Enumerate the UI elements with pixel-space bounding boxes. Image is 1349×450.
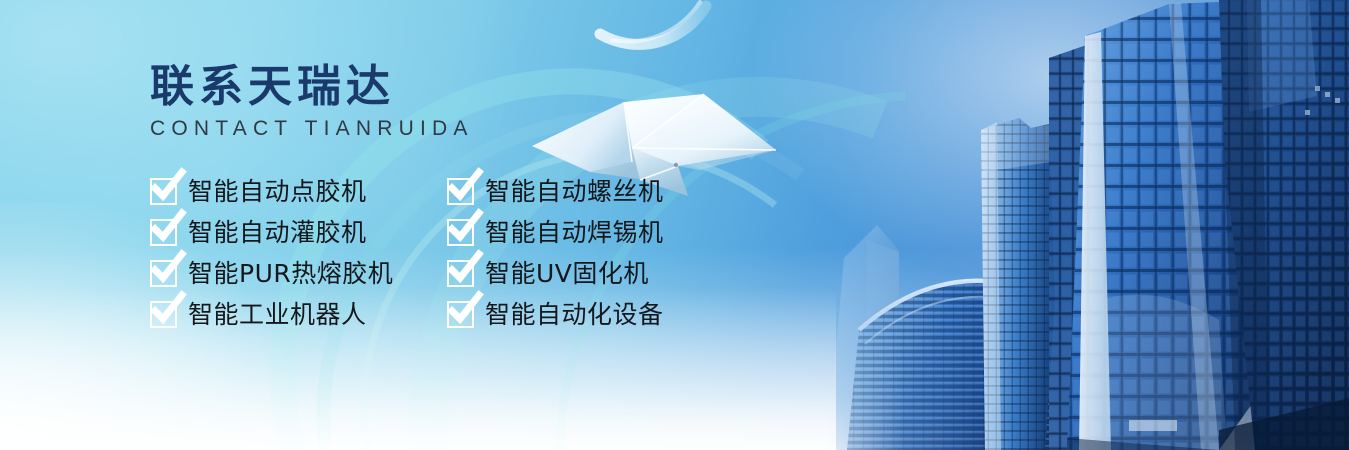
list-item-label: 智能自动螺丝机 <box>485 179 664 204</box>
page-title: 联系天瑞达 <box>150 62 770 111</box>
list-item: 智能自动螺丝机 <box>447 171 744 212</box>
list-item: 智能UV固化机 <box>447 253 744 294</box>
list-item-label: 智能UV固化机 <box>485 261 649 286</box>
list-item: 智能自动灌胶机 <box>150 212 447 253</box>
skyscraper-photo-backdrop <box>749 0 1349 450</box>
list-item: 智能工业机器人 <box>150 294 447 335</box>
checkbox-checked-icon <box>447 301 474 328</box>
banner-content: 联系天瑞达 CONTACT TIANRUIDA 智能自动点胶机 智能自动螺丝机 <box>150 62 770 335</box>
checkbox-checked-icon <box>150 178 177 205</box>
list-item-label: 智能自动点胶机 <box>188 179 367 204</box>
checkbox-checked-icon <box>447 260 474 287</box>
product-checklist: 智能自动点胶机 智能自动螺丝机 智能自动灌胶机 智能自动焊锡机 <box>150 171 770 335</box>
list-item-label: 智能自动化设备 <box>485 302 664 327</box>
page-subtitle: CONTACT TIANRUIDA <box>150 117 770 141</box>
checkbox-checked-icon <box>150 219 177 246</box>
list-item: 智能自动化设备 <box>447 294 744 335</box>
list-item: 智能自动点胶机 <box>150 171 447 212</box>
list-item-label: 智能自动焊锡机 <box>485 220 664 245</box>
list-item-label: 智能工业机器人 <box>188 302 367 327</box>
contact-banner: 联系天瑞达 CONTACT TIANRUIDA 智能自动点胶机 智能自动螺丝机 <box>0 0 1349 450</box>
checkbox-checked-icon <box>150 260 177 287</box>
checkbox-checked-icon <box>150 301 177 328</box>
list-item: 智能PUR热熔胶机 <box>150 253 447 294</box>
list-item-label: 智能自动灌胶机 <box>188 220 367 245</box>
list-item-label: 智能PUR热熔胶机 <box>188 261 393 286</box>
checkbox-checked-icon <box>447 178 474 205</box>
list-item: 智能自动焊锡机 <box>447 212 744 253</box>
checkbox-checked-icon <box>447 219 474 246</box>
